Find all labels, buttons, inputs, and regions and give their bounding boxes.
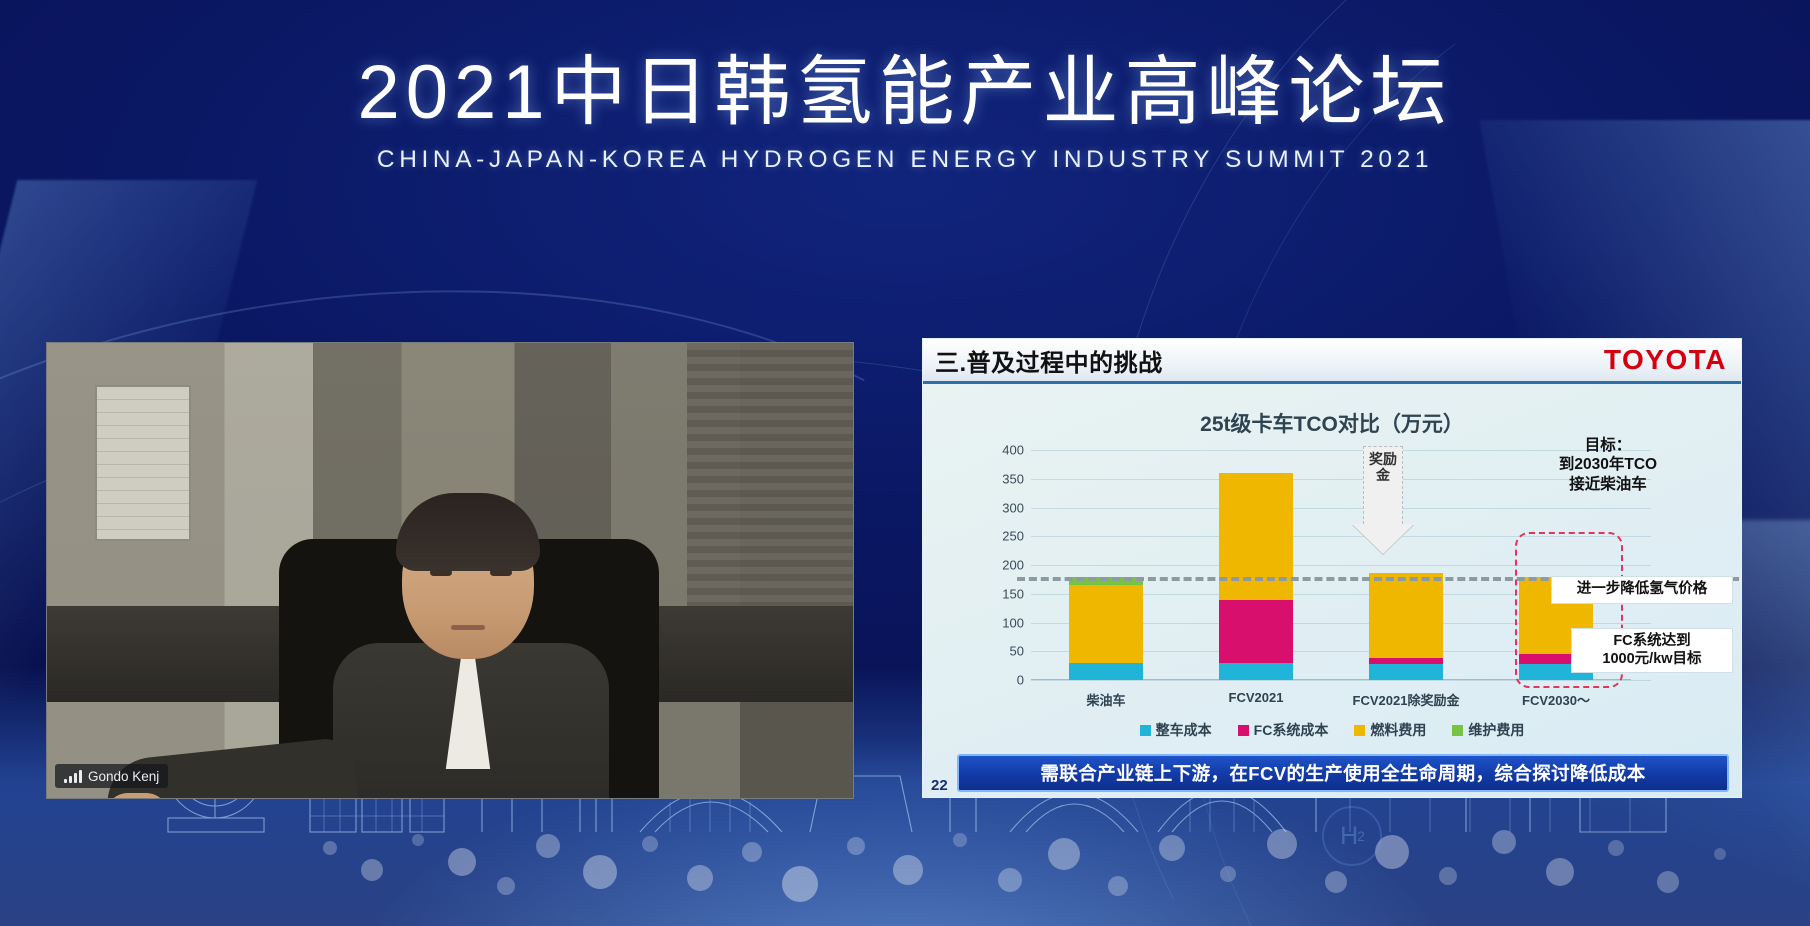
- y-axis-tick-label: 400: [1002, 443, 1024, 458]
- y-axis-tick-label: 50: [1010, 644, 1024, 659]
- signal-strength-icon: [64, 770, 82, 783]
- presentation-stage: H2 2021中日韩氢能产业高峰论坛 CHINA-JAPAN-KOREA HYD…: [0, 0, 1810, 926]
- slide-section-title: 三.普及过程中的挑战: [935, 343, 1163, 378]
- incentive-arrow-annotation: 奖励金: [1363, 446, 1403, 554]
- person-mouth: [451, 625, 485, 630]
- y-axis-tick-label: 150: [1002, 586, 1024, 601]
- y-axis-tick-label: 300: [1002, 500, 1024, 515]
- y-axis-tick-label: 100: [1002, 615, 1024, 630]
- side-note-hydrogen-price: 进一步降低氢气价格: [1551, 576, 1733, 604]
- legend-label: FC系统成本: [1254, 720, 1329, 740]
- legend-item: 燃料费用: [1354, 720, 1426, 740]
- legend-label: 维护费用: [1468, 720, 1524, 740]
- legend-swatch: [1238, 725, 1249, 736]
- wall-board: [95, 385, 191, 541]
- chart-bar-segment: [1069, 585, 1143, 663]
- legend-swatch: [1452, 725, 1463, 736]
- y-axis-tick-label: 350: [1002, 471, 1024, 486]
- slide-page-number: 22: [931, 777, 948, 794]
- incentive-arrow-label: 奖励金: [1363, 446, 1403, 524]
- chart-title: 25t级卡车TCO对比（万元）: [923, 408, 1741, 438]
- slide-header: 三.普及过程中的挑战 TOYOTA: [923, 339, 1741, 384]
- chart-bar: FCV2021除奖励金: [1369, 573, 1443, 680]
- legend-swatch: [1354, 725, 1365, 736]
- legend-label: 燃料费用: [1370, 720, 1426, 740]
- y-axis-tick-label: 200: [1002, 558, 1024, 573]
- chart-bar-segment: [1369, 664, 1443, 680]
- person-eye-left: [430, 569, 452, 576]
- video-background: [47, 343, 853, 798]
- legend-label: 整车成本: [1156, 720, 1212, 740]
- x-axis-tick-label: FCV2030～: [1456, 690, 1656, 709]
- goal-line-2: 到2030年TCO: [1503, 455, 1713, 474]
- event-title-cn: 2021中日韩氢能产业高峰论坛: [0, 52, 1810, 134]
- toyota-logo: TOYOTA: [1604, 344, 1727, 376]
- chart-bar-segment: [1219, 473, 1293, 600]
- y-axis-tick-label: 250: [1002, 529, 1024, 544]
- goal-line-3: 接近柴油车: [1503, 475, 1713, 494]
- chart-bar-segment: [1219, 663, 1293, 680]
- event-title-block: 2021中日韩氢能产业高峰论坛 CHINA-JAPAN-KOREA HYDROG…: [0, 52, 1810, 174]
- legend-item: FC系统成本: [1238, 720, 1329, 740]
- participant-name-badge: Gondo Kenj: [55, 764, 168, 788]
- legend-item: 维护费用: [1452, 720, 1524, 740]
- y-axis-tick-label: 0: [1017, 673, 1024, 688]
- chart-bar-segment: [1069, 663, 1143, 680]
- fc-note-line-2: 1000元/kw目标: [1572, 651, 1732, 669]
- fc-note-line-1: FC系统达到: [1572, 633, 1732, 651]
- incentive-arrow-head-icon: [1352, 524, 1414, 554]
- side-note-fc-system: FC系统达到 1000元/kw目标: [1571, 628, 1733, 673]
- event-title-en: CHINA-JAPAN-KOREA HYDROGEN ENERGY INDUST…: [0, 146, 1810, 174]
- goal-annotation: 目标： 到2030年TCO 接近柴油车: [1503, 436, 1713, 494]
- presentation-slide[interactable]: 三.普及过程中的挑战 TOYOTA 25t级卡车TCO对比（万元） 050100…: [922, 338, 1742, 798]
- legend-item: 整车成本: [1140, 720, 1212, 740]
- slide-body: 25t级卡车TCO对比（万元） 050100150200250300350400…: [923, 384, 1741, 798]
- hydrogen-watermark-icon: H2: [1322, 806, 1382, 866]
- person-eye-right: [490, 569, 512, 576]
- participant-name-text: Gondo Kenj: [88, 769, 159, 784]
- chart-legend: 整车成本FC系统成本燃料费用维护费用: [923, 720, 1741, 740]
- chart-bar-segment: [1369, 573, 1443, 658]
- chart-gridline: [1031, 508, 1651, 509]
- chart-bar-segment: [1219, 600, 1293, 663]
- goal-line-1: 目标：: [1503, 436, 1713, 455]
- slide-conclusion-banner: 需联合产业链上下游，在FCV的生产使用全生命周期，综合探讨降低成本: [957, 754, 1729, 792]
- chart-bar: 柴油车: [1069, 577, 1143, 681]
- legend-swatch: [1140, 725, 1151, 736]
- video-participant-panel[interactable]: Gondo Kenj: [46, 342, 854, 799]
